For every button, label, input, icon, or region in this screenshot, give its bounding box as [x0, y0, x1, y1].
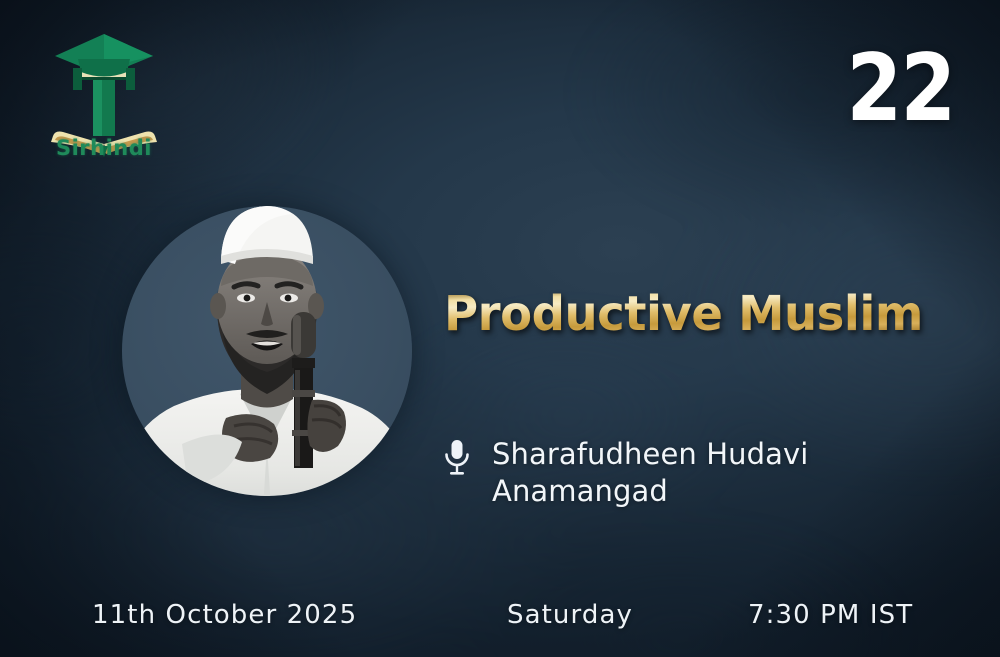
page-title: Productive Muslim [444, 286, 923, 342]
microphone-icon [444, 439, 470, 477]
event-poster: Sirhindi 22 [0, 0, 1000, 657]
event-footer: 11th October 2025 Saturday 7:30 PM IST [0, 593, 1000, 637]
brand-logo[interactable]: Sirhindi [45, 26, 163, 176]
event-date: 11th October 2025 [92, 600, 357, 630]
speaker-portrait [122, 206, 412, 496]
speaker-name: Sharafudheen Hudavi Anamangad [492, 436, 808, 510]
day-number: 22 [846, 44, 954, 133]
speaker-block: Sharafudheen Hudavi Anamangad [444, 436, 808, 510]
event-time: 7:30 PM IST [748, 600, 913, 630]
brand-name: Sirhindi [45, 136, 163, 160]
event-weekday: Saturday [507, 600, 633, 630]
portrait-photo [122, 194, 412, 524]
